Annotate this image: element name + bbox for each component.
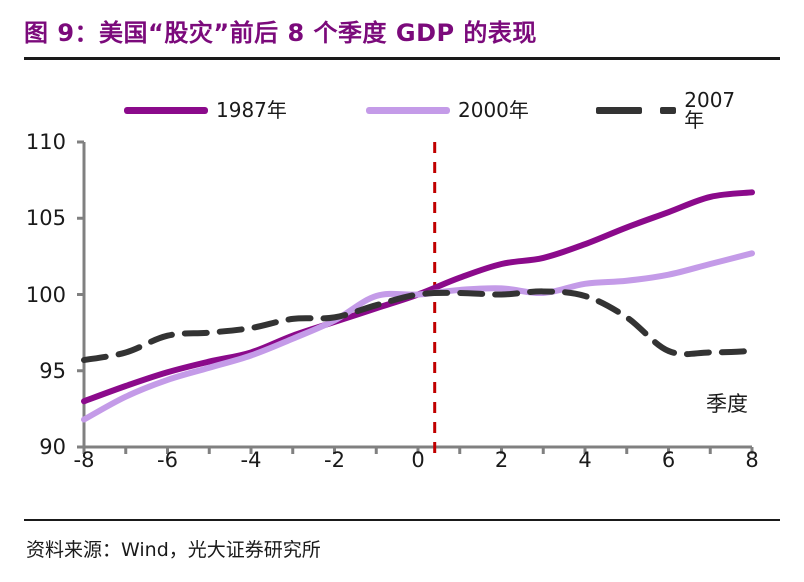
series-line-2000 <box>84 253 752 419</box>
x-axis-tick-label: 2 <box>495 448 508 472</box>
x-axis-tick-label: 4 <box>578 448 591 472</box>
legend-swatch-2000 <box>366 107 450 114</box>
series-line-2007 <box>84 291 752 360</box>
chart-plot-area: 9095100105110 -8-6-4-202468 季度 <box>0 130 804 470</box>
x-axis-tick-label: -6 <box>157 448 178 472</box>
figure-container: 图 9：美国“股灾”前后 8 个季度 GDP 的表现 1987年 2000年 2… <box>0 0 804 582</box>
x-axis-tick-label: 0 <box>411 448 424 472</box>
legend-label-2007: 2007年 <box>684 90 752 130</box>
x-axis-tick-label: -2 <box>324 448 345 472</box>
x-axis-tick-label: 6 <box>662 448 675 472</box>
chart-canvas <box>0 130 804 470</box>
x-axis-tick-label: 8 <box>745 448 758 472</box>
page-title: 图 9：美国“股灾”前后 8 个季度 GDP 的表现 <box>24 8 784 52</box>
legend-item-2000[interactable]: 2000年 <box>366 96 529 124</box>
legend-label-2000: 2000年 <box>458 100 529 120</box>
chart-legend: 1987年 2000年 2007年 <box>84 96 752 124</box>
legend-label-1987: 1987年 <box>216 100 287 120</box>
x-axis-title: 季度 <box>706 388 748 418</box>
legend-item-1987[interactable]: 1987年 <box>124 96 287 124</box>
source-note: 资料来源：Wind，光大证券研究所 <box>26 528 786 568</box>
x-axis-tick-label: -8 <box>74 448 95 472</box>
x-axis-tick-label: -4 <box>241 448 262 472</box>
legend-swatch-2007 <box>596 107 676 114</box>
x-axis-labels: -8-6-4-202468 <box>0 448 804 488</box>
source-divider <box>24 519 780 521</box>
legend-item-2007[interactable]: 2007年 <box>596 96 752 124</box>
series-paths <box>84 192 752 419</box>
legend-swatch-1987 <box>124 107 208 114</box>
title-divider-top <box>24 57 780 60</box>
